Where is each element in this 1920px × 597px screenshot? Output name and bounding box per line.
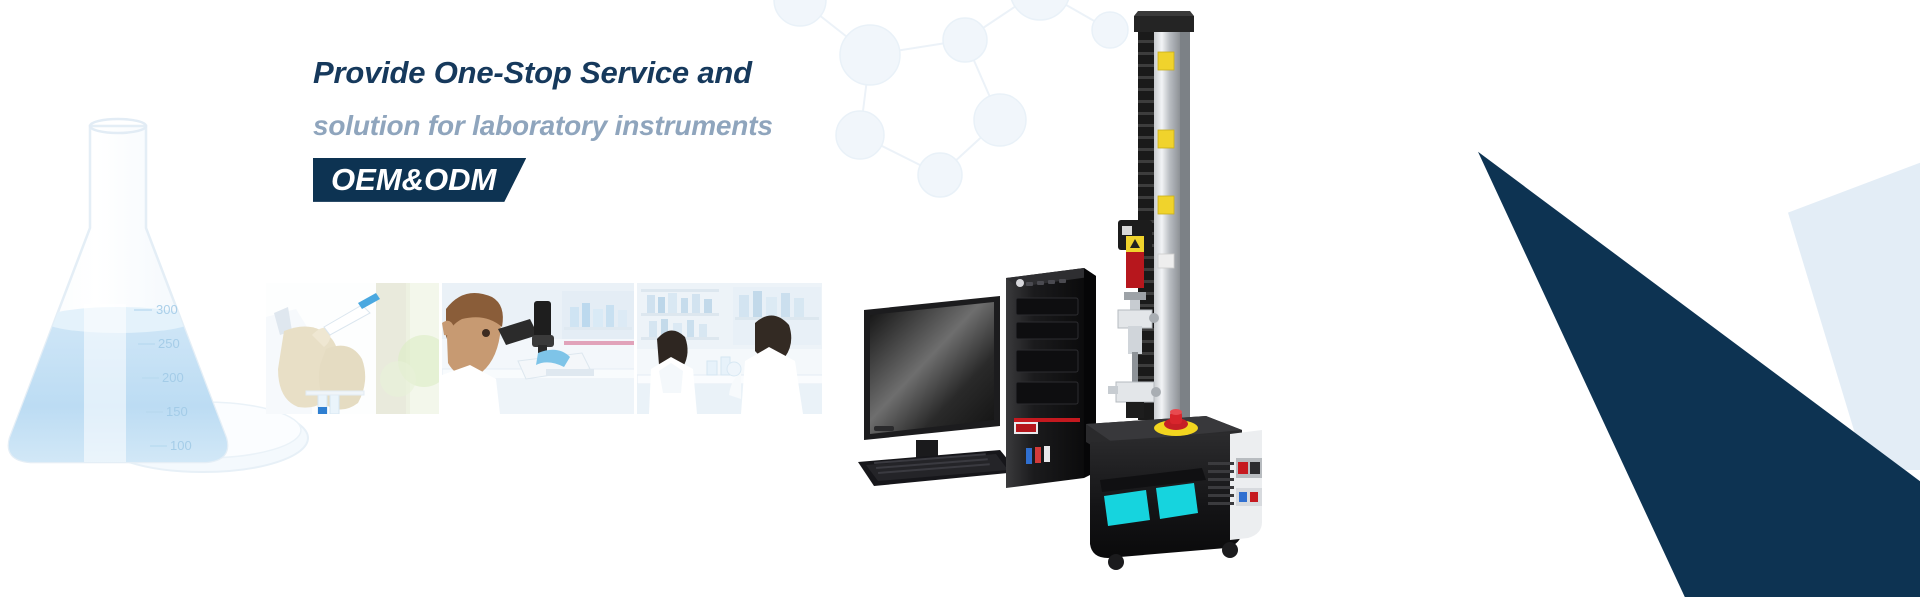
- desktop-monitor: [864, 296, 1000, 478]
- svg-text:150: 150: [166, 404, 188, 419]
- photo-microscope: [442, 283, 634, 414]
- oem-odm-badge-label: OEM&ODM: [331, 158, 496, 202]
- oem-odm-badge: OEM&ODM: [313, 158, 526, 202]
- svg-text:100: 100: [170, 438, 192, 453]
- headline-line-2: solution for laboratory instruments: [313, 111, 1013, 142]
- lab-photo-strip: [266, 283, 822, 414]
- computer-tower: [1006, 268, 1096, 488]
- keyboard: [858, 450, 1018, 486]
- headline-line-1: Provide One-Stop Service and: [313, 56, 1013, 90]
- svg-text:300: 300: [156, 302, 178, 317]
- svg-text:250: 250: [158, 336, 180, 351]
- photo-lab-bench: [637, 283, 822, 414]
- svg-text:200: 200: [162, 370, 184, 385]
- photo-pipetting: [266, 283, 439, 414]
- promo-banner: 300 250 200 150 100 Provide One-Stop Ser…: [0, 0, 1920, 597]
- headline-block: Provide One-Stop Service and solution fo…: [313, 56, 1013, 202]
- universal-testing-machine: [1086, 11, 1262, 570]
